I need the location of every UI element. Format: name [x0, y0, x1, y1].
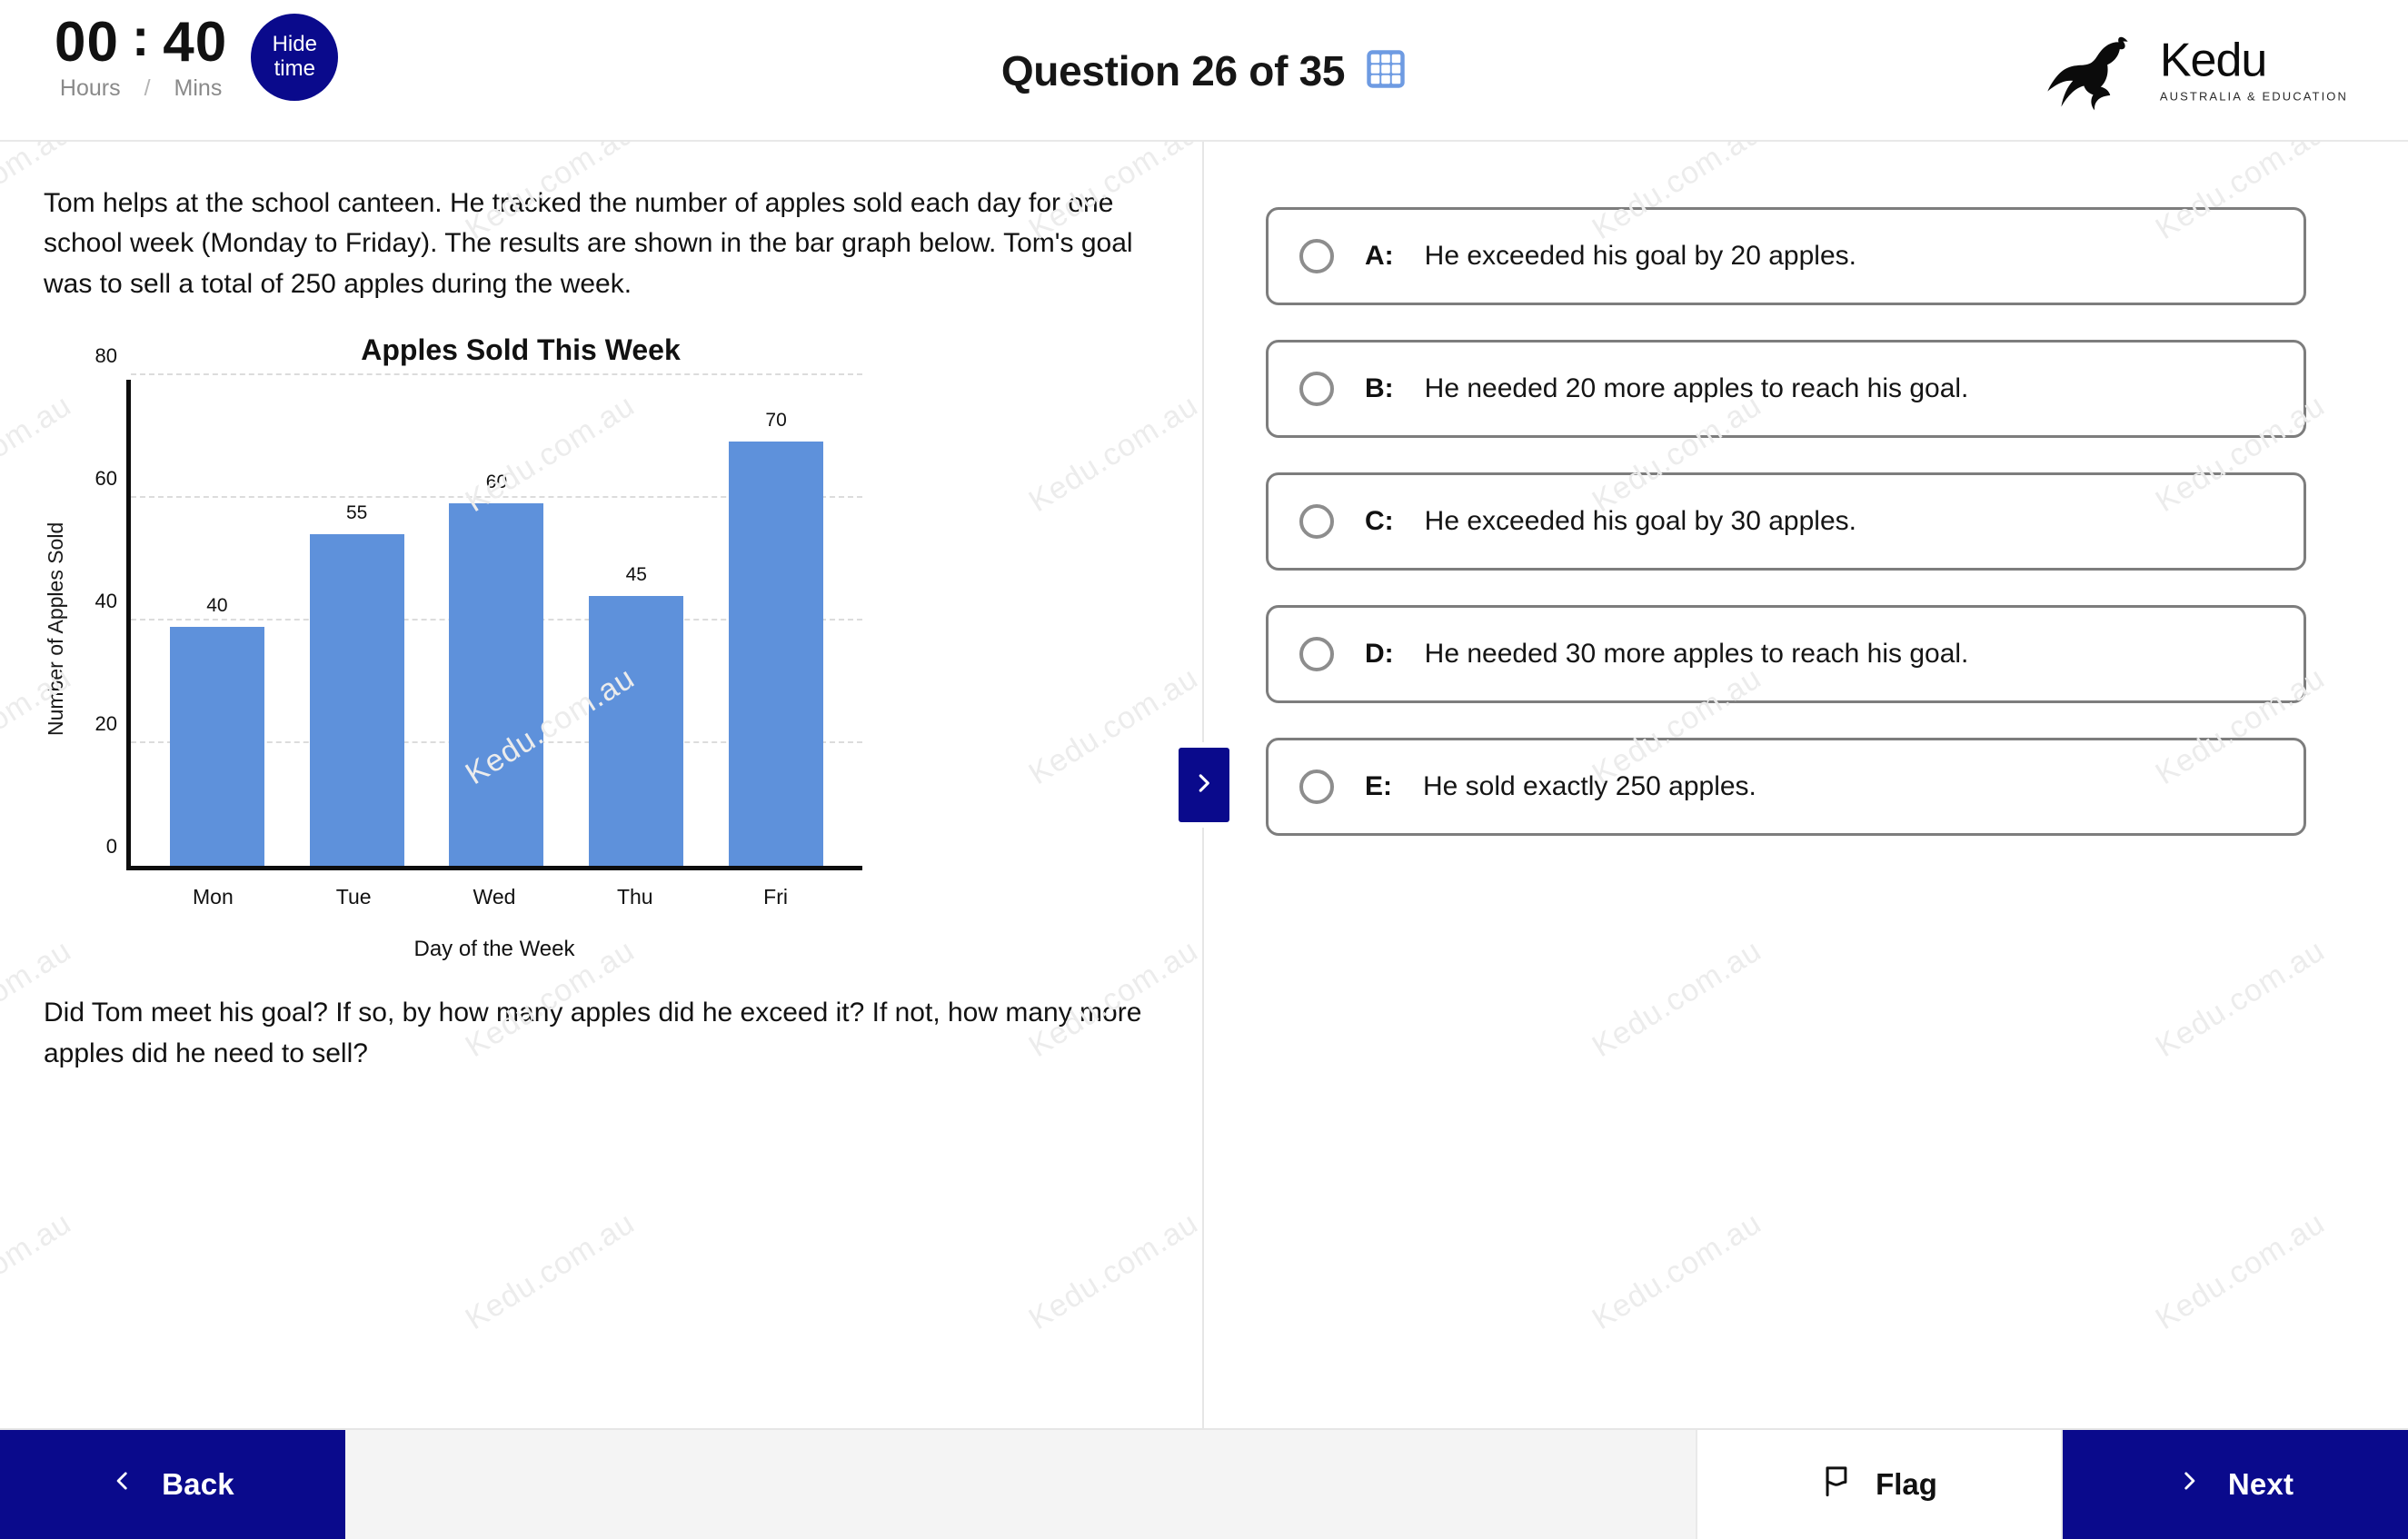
y-tick: 40 [95, 590, 117, 613]
option-letter: C: [1365, 506, 1394, 537]
footer-right-group: Flag Next [1696, 1430, 2408, 1539]
flag-button[interactable]: Flag [1696, 1430, 2063, 1539]
bar-value-label: 40 [206, 595, 227, 617]
y-tick: 60 [95, 467, 117, 491]
stimulus-pane: Tom helps at the school canteen. He trac… [0, 142, 1204, 1428]
bar-column: 60 [449, 380, 543, 866]
bar [170, 627, 264, 866]
chart-x-axis-ticks: Mon Tue Wed Thu Fri [126, 885, 862, 909]
timer-label-slash: / [144, 75, 151, 102]
answer-pane: A: He exceeded his goal by 20 apples. B:… [1204, 142, 2408, 1428]
x-tick: Fri [729, 885, 823, 909]
flag-icon [1821, 1463, 1852, 1506]
app-header: 00 : 40 Hours / Mins Hide time Question … [0, 0, 2408, 142]
option-letter: D: [1365, 639, 1394, 670]
bar-column: 70 [729, 380, 823, 866]
hide-time-button[interactable]: Hide time [251, 14, 338, 101]
hide-time-label-line1: Hide [273, 33, 317, 57]
option-text: He exceeded his goal by 20 apples. [1425, 241, 1856, 272]
y-tick: 20 [95, 712, 117, 736]
option-letter: E: [1365, 771, 1392, 802]
option-c[interactable]: C: He exceeded his goal by 30 apples. [1266, 472, 2306, 571]
chevron-left-icon [111, 1465, 134, 1504]
timer-hours-label: Hours [60, 75, 121, 102]
timer-mins-value: 40 [163, 13, 227, 72]
option-b[interactable]: B: He needed 20 more apples to reach his… [1266, 340, 2306, 438]
back-label: Back [162, 1467, 234, 1502]
chevron-right-icon [1192, 768, 1216, 803]
logo-wordmark: Kedu [2160, 37, 2266, 84]
grid-icon[interactable] [1365, 48, 1407, 94]
exam-timer: 00 : 40 Hours / Mins Hide time [55, 13, 338, 102]
option-a[interactable]: A: He exceeded his goal by 20 apples. [1266, 207, 2306, 305]
logo-tagline: AUSTRALIA & EDUCATION [2160, 90, 2348, 104]
x-tick: Thu [588, 885, 682, 909]
chart-y-axis-label: Number of Apples Sold [44, 380, 68, 861]
radio-icon[interactable] [1299, 239, 1334, 273]
bar-value-label: 70 [765, 410, 786, 432]
chart-title: Apples Sold This Week [71, 333, 970, 367]
timer-labels: Hours / Mins [60, 75, 222, 102]
question-stem: Tom helps at the school canteen. He trac… [44, 184, 1148, 304]
bar-value-label: 45 [626, 564, 647, 586]
timer-readout: 00 : 40 Hours / Mins [55, 13, 227, 102]
bar-column: 55 [310, 380, 404, 866]
option-text: He sold exactly 250 apples. [1423, 771, 1756, 802]
x-tick: Wed [447, 885, 542, 909]
radio-icon[interactable] [1299, 504, 1334, 539]
exam-question-page: 00 : 40 Hours / Mins Hide time Question … [0, 0, 2408, 1539]
option-text: He needed 30 more apples to reach his go… [1425, 639, 1969, 670]
bar-column: 45 [589, 380, 683, 866]
option-letter: B: [1365, 373, 1394, 404]
y-tick: 0 [106, 835, 117, 859]
bar [310, 534, 404, 866]
chart-axes: 40 55 60 [126, 380, 862, 962]
page-title: Question 26 of 35 [1001, 46, 1345, 95]
kangaroo-icon [2045, 25, 2151, 116]
brand-logo: Kedu AUSTRALIA & EDUCATION [2045, 25, 2348, 116]
gridline [131, 373, 862, 375]
next-button[interactable]: Next [2063, 1430, 2408, 1539]
x-tick: Tue [306, 885, 401, 909]
bar-chart: Apples Sold This Week Number of Apples S… [44, 333, 970, 962]
option-e[interactable]: E: He sold exactly 250 apples. [1266, 738, 2306, 836]
bar [589, 596, 683, 866]
radio-icon[interactable] [1299, 637, 1334, 671]
timer-mins-label: Mins [174, 75, 223, 102]
bar-column: 40 [170, 380, 264, 866]
option-d[interactable]: D: He needed 30 more apples to reach his… [1266, 605, 2306, 703]
radio-icon[interactable] [1299, 372, 1334, 406]
y-tick: 80 [95, 344, 117, 368]
bar [449, 503, 543, 866]
timer-digits: 00 : 40 [55, 13, 227, 72]
hide-time-label-line2: time [274, 57, 315, 82]
question-prompt: Did Tom meet his goal? If so, by how man… [44, 993, 1148, 1074]
bar-value-label: 55 [346, 502, 367, 524]
timer-hours-value: 00 [55, 13, 119, 72]
nav-footer: Back Flag Next [0, 1428, 2408, 1539]
chart-bars: 40 55 60 [131, 380, 862, 866]
chart-x-axis-label: Day of the Week [126, 937, 862, 962]
chart-y-axis-ticks: 80 60 40 20 0 [72, 380, 121, 870]
x-tick: Mon [165, 885, 260, 909]
chevron-right-icon [2177, 1465, 2201, 1504]
option-text: He needed 20 more apples to reach his go… [1425, 373, 1969, 404]
option-letter: A: [1365, 241, 1394, 272]
logo-text: Kedu AUSTRALIA & EDUCATION [2160, 37, 2348, 104]
timer-separator: : [132, 11, 150, 66]
back-button[interactable]: Back [0, 1430, 345, 1539]
next-label: Next [2228, 1467, 2294, 1502]
radio-icon[interactable] [1299, 769, 1334, 804]
answer-options: A: He exceeded his goal by 20 apples. B:… [1266, 207, 2306, 836]
chart-plot-region: Number of Apples Sold 80 60 40 20 0 [44, 380, 970, 962]
panel-toggle-button[interactable] [1179, 748, 1229, 822]
flag-label: Flag [1876, 1467, 1937, 1502]
content-area: Tom helps at the school canteen. He trac… [0, 142, 2408, 1428]
bar [729, 442, 823, 866]
bar-value-label: 60 [486, 472, 507, 493]
chart-plot: 40 55 60 [126, 380, 862, 870]
option-text: He exceeded his goal by 30 apples. [1425, 506, 1856, 537]
